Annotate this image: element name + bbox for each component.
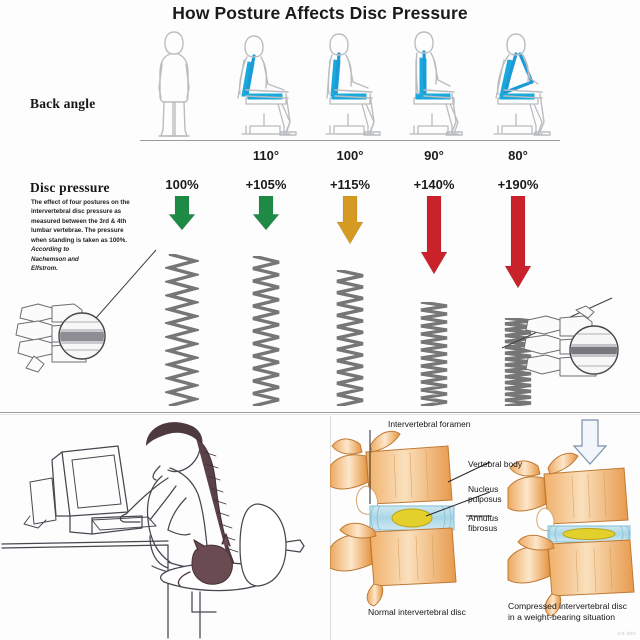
vertebra-inset-compressed	[520, 300, 636, 392]
panel-divider-horizontal	[0, 412, 640, 413]
posture-figure-sit-110	[224, 26, 308, 141]
pressure-label-sit-90: +140%	[392, 177, 476, 192]
angle-label-sit-100: 100°	[308, 148, 392, 163]
spring-sit-90	[392, 302, 476, 406]
page-title: How Posture Affects Disc Pressure	[0, 3, 640, 24]
row-label-back-angle: Back angle	[30, 96, 95, 112]
watermark: via des	[617, 631, 636, 637]
compressed-disc-group	[508, 453, 634, 616]
caption-body: The effect of four postures on the inter…	[31, 199, 130, 244]
label-annulus-fibrosus: fibrosus	[468, 523, 497, 533]
posture-figure-row	[140, 26, 560, 141]
label-annulus: Annulus	[468, 513, 498, 523]
label-vertebral-body: Vertebral body	[468, 459, 522, 469]
panel-divider-horizontal-shadow	[0, 414, 640, 415]
label-intervertebral-foramen: Intervertebral foramen	[388, 419, 470, 429]
posture-figure-sit-80	[476, 26, 560, 141]
caption-compressed-disc: Compressed intervertebral disc in a weig…	[508, 601, 627, 624]
load-arrow	[574, 420, 606, 464]
pressure-label-standing: 100%	[140, 177, 224, 192]
spring-row	[140, 248, 560, 406]
posture-figure-standing	[140, 26, 224, 141]
spring-sit-100	[308, 270, 392, 406]
posture-figure-sit-100	[308, 26, 392, 141]
angle-label-row: 110°100°90°80°	[140, 148, 560, 166]
label-nucleus: Nucleus	[468, 484, 498, 494]
caption-compressed-line1: Compressed intervertebral disc	[508, 601, 627, 611]
posture-figure-sit-90	[392, 26, 476, 141]
infographic-root: How Posture Affects Disc Pressure Back a…	[0, 0, 640, 640]
pressure-label-sit-80: +190%	[476, 177, 560, 192]
caption-normal-disc: Normal intervertebral disc	[368, 607, 466, 618]
pressure-label-sit-100: +115%	[308, 177, 392, 192]
row-label-disc-pressure: Disc pressure	[30, 180, 110, 196]
pressure-label-row: 100%+105%+115%+140%+190%	[140, 177, 560, 197]
normal-disc-group	[330, 431, 456, 606]
angle-label-sit-110: 110°	[224, 148, 308, 163]
caption-compressed-line2: in a weight-bearing situation	[508, 612, 615, 622]
vertebra-inset-normal	[8, 292, 116, 380]
label-nucleus-pulposus: pulposus	[468, 494, 502, 504]
angle-label-sit-90: 90°	[392, 148, 476, 163]
floor-baseline	[140, 140, 560, 141]
spring-sit-110	[224, 256, 308, 406]
angle-label-sit-80: 80°	[476, 148, 560, 163]
slouched-desk-worker-illustration	[0, 416, 330, 640]
pressure-label-sit-110: +105%	[224, 177, 308, 192]
